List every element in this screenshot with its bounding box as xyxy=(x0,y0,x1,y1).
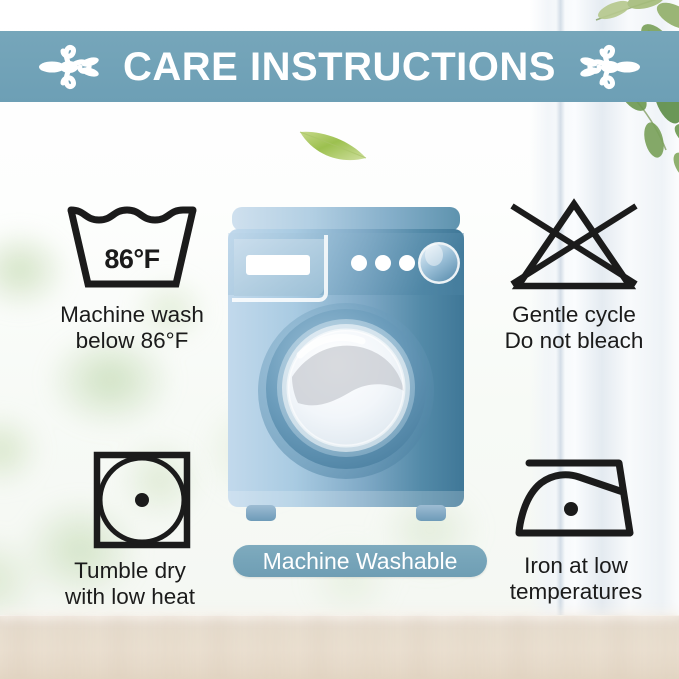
fleur-de-lis-left-icon xyxy=(39,44,101,90)
wash-tub-icon: 86°F xyxy=(57,196,207,296)
symbol-label-do-not-bleach: Gentle cycle Do not bleach xyxy=(505,302,644,354)
wash-temperature-value: 86°F xyxy=(57,244,207,275)
header-banner: CARE INSTRUCTIONS xyxy=(0,31,679,102)
badge-label: Machine Washable xyxy=(263,550,458,573)
no-bleach-triangle-icon xyxy=(499,196,649,296)
washing-machine-illustration xyxy=(228,205,464,535)
symbol-tumble-dry: Tumble dry with low heat xyxy=(22,447,238,610)
care-instructions-infographic: CARE INSTRUCTIONS xyxy=(0,0,679,679)
symbol-do-not-bleach: Gentle cycle Do not bleach xyxy=(470,196,678,354)
symbol-label-machine-wash: Machine wash below 86°F xyxy=(60,302,204,354)
iron-icon xyxy=(501,447,651,547)
tumble-dry-icon xyxy=(55,447,205,552)
machine-washable-badge: Machine Washable xyxy=(233,545,487,577)
fleur-de-lis-right-icon xyxy=(578,44,640,90)
table-surface xyxy=(0,615,679,679)
symbol-machine-wash: 86°F Machine wash below 86°F xyxy=(24,196,240,354)
symbol-iron-low: Iron at low temperatures xyxy=(472,447,679,605)
page-title: CARE INSTRUCTIONS xyxy=(123,47,556,87)
symbol-label-tumble-dry: Tumble dry with low heat xyxy=(65,558,195,610)
floating-leaf-icon xyxy=(296,122,370,166)
symbol-label-iron: Iron at low temperatures xyxy=(510,553,643,605)
